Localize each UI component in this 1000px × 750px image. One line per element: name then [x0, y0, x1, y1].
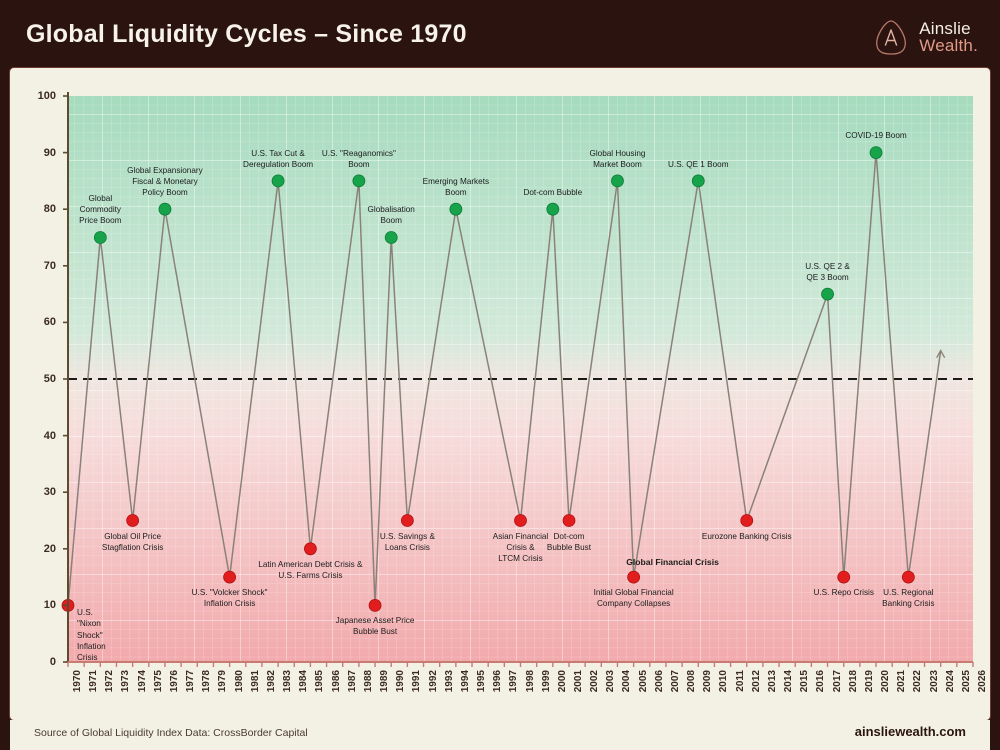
liquidity-line-chart: [10, 68, 990, 720]
x-axis-tick-label: 1988: [363, 670, 374, 692]
x-axis-tick-label: 2007: [670, 670, 681, 692]
x-axis-tick-label: 1997: [508, 670, 519, 692]
x-axis-tick-label: 1996: [492, 670, 503, 692]
website-link[interactable]: ainsliewealth.com: [855, 724, 966, 739]
x-axis-tick-label: 1979: [217, 670, 228, 692]
chart-plot-area: 0102030405060708090100: [10, 68, 990, 720]
x-axis-tick-label: 1978: [201, 670, 212, 692]
x-axis-tick-label: 1985: [314, 670, 325, 692]
x-axis-tick-label: 2023: [929, 670, 940, 692]
x-axis-tick-label: 1975: [153, 670, 164, 692]
x-axis-tick-label: 1998: [525, 670, 536, 692]
x-axis-tick-label: 2024: [945, 670, 956, 692]
x-axis-tick-label: 2006: [654, 670, 665, 692]
x-axis-tick-label: 1971: [88, 670, 99, 692]
x-axis-tick-label: 1982: [266, 670, 277, 692]
x-axis-tick-label: 2019: [864, 670, 875, 692]
logo-line-ainslie: Ainslie: [919, 20, 978, 37]
x-axis-tick-label: 2015: [799, 670, 810, 692]
x-axis-tick-label: 1989: [379, 670, 390, 692]
x-axis-tick-label: 1992: [428, 670, 439, 692]
x-axis-tick-label: 1993: [444, 670, 455, 692]
ainslie-logo-icon: [871, 17, 911, 57]
x-axis-tick-label: 2009: [702, 670, 713, 692]
x-axis-tick-label: 2011: [735, 670, 746, 692]
x-axis-tick-label: 2014: [783, 670, 794, 692]
x-axis-tick-label: 2012: [751, 670, 762, 692]
x-axis-tick-label: 2002: [589, 670, 600, 692]
x-axis-tick-label: 2008: [686, 670, 697, 692]
logo-line-wealth: Wealth.: [919, 37, 978, 54]
x-axis-tick-label: 2020: [880, 670, 891, 692]
footer-bar: Source of Global Liquidity Index Data: C…: [10, 720, 990, 750]
x-axis-tick-label: 2022: [912, 670, 923, 692]
x-axis-tick-label: 2010: [718, 670, 729, 692]
x-axis-tick-label: 2000: [557, 670, 568, 692]
x-axis-tick-label: 2003: [605, 670, 616, 692]
x-axis-tick-label: 2017: [832, 670, 843, 692]
chart-card: 0102030405060708090100: [10, 68, 990, 720]
x-axis-tick-label: 2004: [621, 670, 632, 692]
x-axis-tick-label: 2025: [961, 670, 972, 692]
liquidity-cycles-infographic: Global Liquidity Cycles – Since 1970 Ain…: [0, 0, 1000, 750]
brand-logo: Ainslie Wealth.: [871, 12, 978, 62]
x-axis-tick-label: 1990: [395, 670, 406, 692]
x-axis-tick-label: 2018: [848, 670, 859, 692]
x-axis-tick-label: 2005: [638, 670, 649, 692]
x-axis-tick-label: 2001: [573, 670, 584, 692]
x-axis-tick-label: 1991: [411, 670, 422, 692]
x-axis-tick-label: 1995: [476, 670, 487, 692]
x-axis-tick-label: 1970: [72, 670, 83, 692]
x-axis-tick-label: 2026: [977, 670, 988, 692]
page-title: Global Liquidity Cycles – Since 1970: [26, 20, 467, 49]
x-axis-tick-label: 1999: [541, 670, 552, 692]
x-axis-tick-label: 1987: [347, 670, 358, 692]
x-axis-tick-label: 1974: [137, 670, 148, 692]
x-axis-tick-label: 2013: [767, 670, 778, 692]
x-axis-tick-label: 1981: [250, 670, 261, 692]
logo-wordmark: Ainslie Wealth.: [919, 20, 978, 54]
header-bar: Global Liquidity Cycles – Since 1970 Ain…: [0, 0, 1000, 72]
x-axis-tick-label: 1973: [120, 670, 131, 692]
x-axis-tick-label: 1983: [282, 670, 293, 692]
x-axis-tick-label: 1984: [298, 670, 309, 692]
source-note: Source of Global Liquidity Index Data: C…: [34, 727, 308, 739]
x-axis-tick-label: 1980: [234, 670, 245, 692]
x-axis-tick-label: 1986: [331, 670, 342, 692]
x-axis-tick-label: 1972: [104, 670, 115, 692]
x-axis-tick-label: 2016: [815, 670, 826, 692]
x-axis-tick-label: 1977: [185, 670, 196, 692]
x-axis-tick-label: 1976: [169, 670, 180, 692]
x-axis-tick-label: 1994: [460, 670, 471, 692]
x-axis-tick-label: 2021: [896, 670, 907, 692]
